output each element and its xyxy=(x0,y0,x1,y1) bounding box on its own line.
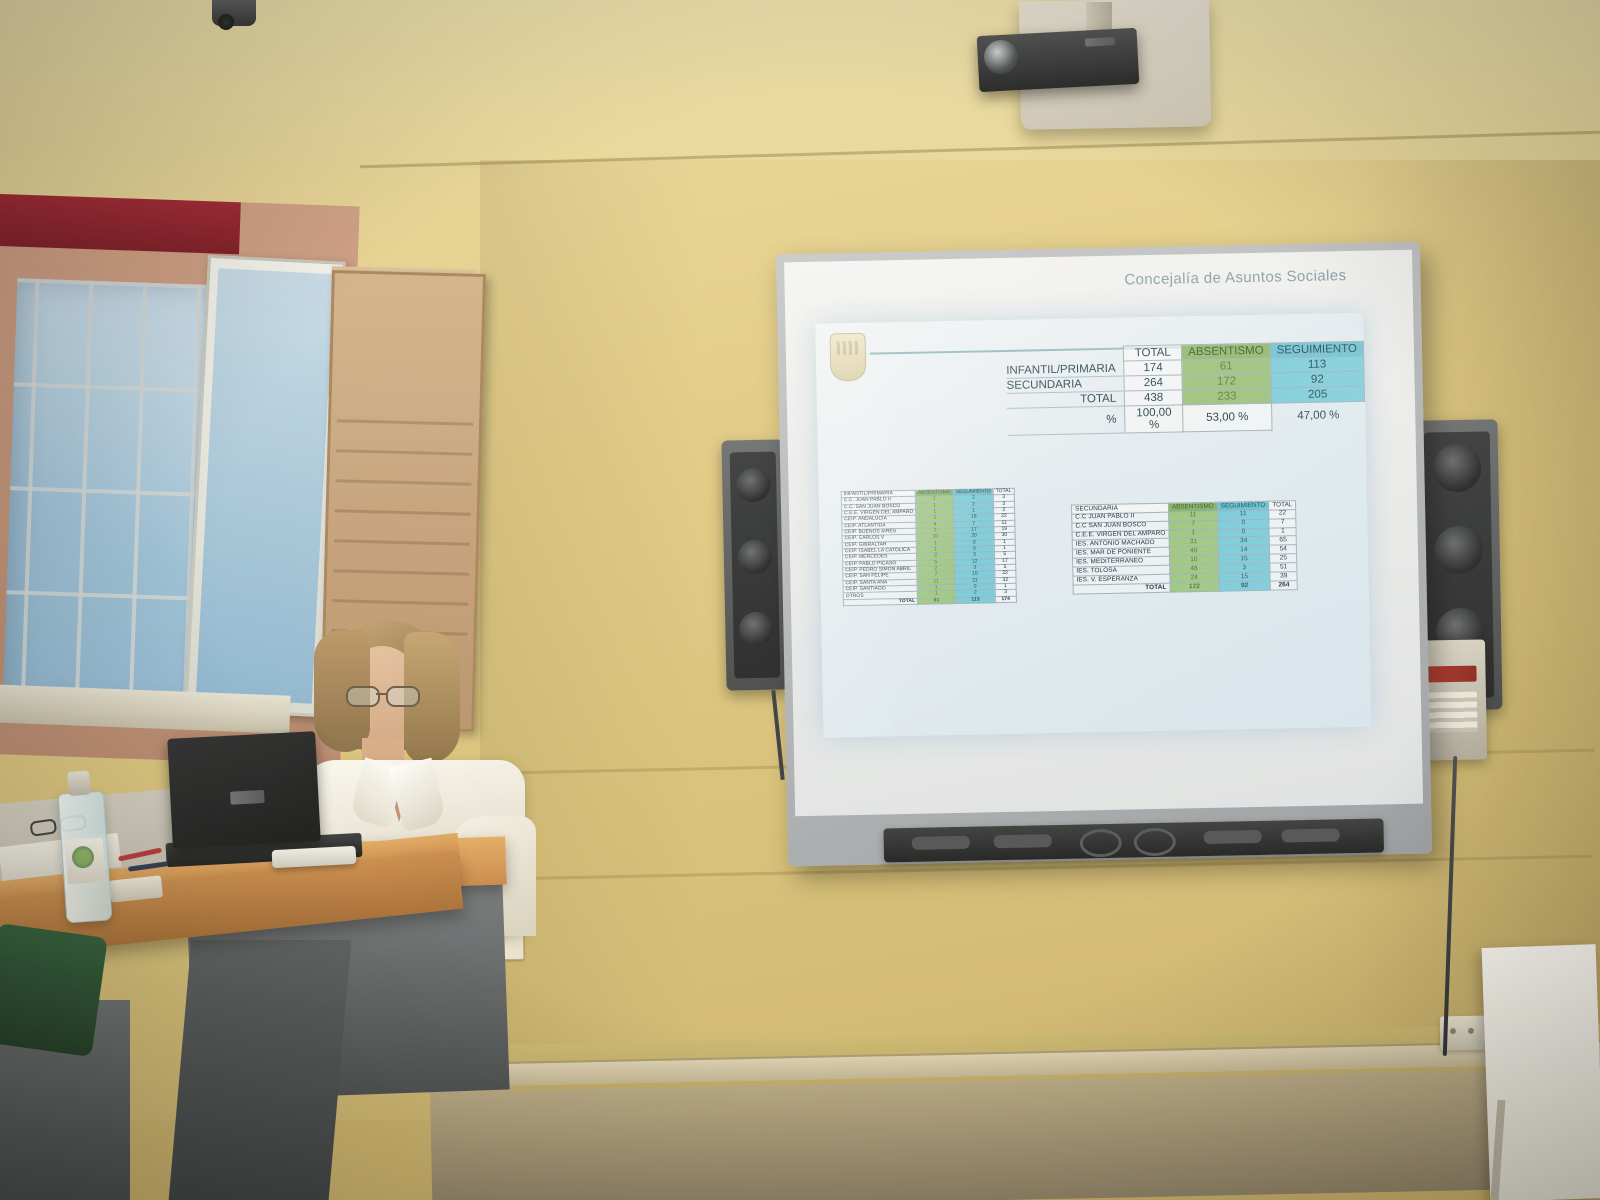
photo-scene: Concejalía de Asuntos Sociales TOTAL ABS… xyxy=(0,0,1600,1200)
cell-total: 174 xyxy=(1124,360,1182,376)
bottle-label xyxy=(65,838,106,885)
security-camera-icon xyxy=(212,0,256,26)
detail-left-body: C.C. JUAN PABLO II123C.C. SAN JUAN BOSCO… xyxy=(841,495,1016,600)
laptop-logo-icon xyxy=(230,790,265,805)
total-value: 61 xyxy=(918,597,956,604)
cell-total: 438 xyxy=(1125,390,1183,406)
desk-leg-center xyxy=(169,940,352,1200)
total-label: TOTAL xyxy=(1073,583,1170,594)
cell-seguimiento-pct: 47,00 % xyxy=(1271,401,1365,430)
table-row: % 100,00 % 53,00 % 47,00 % xyxy=(1007,401,1365,435)
summary-header-total: TOTAL xyxy=(1124,345,1182,361)
total-label: TOTAL xyxy=(843,598,917,606)
bottle-cap xyxy=(67,771,91,796)
wall-speaker-left xyxy=(721,439,788,690)
slide-title: Concejalía de Asuntos Sociales xyxy=(1124,267,1346,288)
floor xyxy=(430,1067,1600,1200)
cell-absentismo: 233 xyxy=(1183,388,1272,405)
sanitizer-bottle[interactable] xyxy=(58,791,113,924)
window-red-header xyxy=(0,194,241,255)
whiteboard-pen-tray[interactable] xyxy=(883,818,1384,862)
cell-total-pct: 100,00 % xyxy=(1125,405,1184,433)
detail-table-infantil-primaria: INFANTIL/PRIMARIA ABSENTISMO SEGUIMIENTO… xyxy=(841,488,1017,607)
laptop-screen-lid[interactable] xyxy=(167,731,321,849)
detail-right-body: C.C JUAN PABLO II111122C.C SAN JUAN BOSC… xyxy=(1072,509,1298,585)
summary-percent-label: % xyxy=(1007,406,1125,435)
projected-slide: Concejalía de Asuntos Sociales TOTAL ABS… xyxy=(815,313,1371,738)
detail-table-secundaria: SECUNDARIA ABSENTISMO SEGUIMIENTO TOTAL … xyxy=(1071,500,1298,595)
slide-header: Concejalía de Asuntos Sociales xyxy=(814,263,1363,320)
total-value: 172 xyxy=(1170,582,1219,592)
total-value: 174 xyxy=(995,596,1016,603)
municipal-crest-icon xyxy=(830,333,867,382)
cell-total: 264 xyxy=(1124,375,1182,391)
total-value: 92 xyxy=(1219,581,1271,591)
total-value: 264 xyxy=(1270,581,1297,590)
whiteboard-surface[interactable]: Concejalía de Asuntos Sociales TOTAL ABS… xyxy=(784,250,1423,816)
interactive-whiteboard[interactable]: Concejalía de Asuntos Sociales TOTAL ABS… xyxy=(776,242,1432,867)
cell-absentismo-pct: 53,00 % xyxy=(1183,403,1272,432)
total-value: 113 xyxy=(955,596,995,603)
chair-foreground xyxy=(0,923,108,1057)
summary-table: TOTAL ABSENTISMO SEGUIMIENTO INFANTIL/PR… xyxy=(1006,341,1366,436)
eyeglasses-icon xyxy=(346,686,418,704)
